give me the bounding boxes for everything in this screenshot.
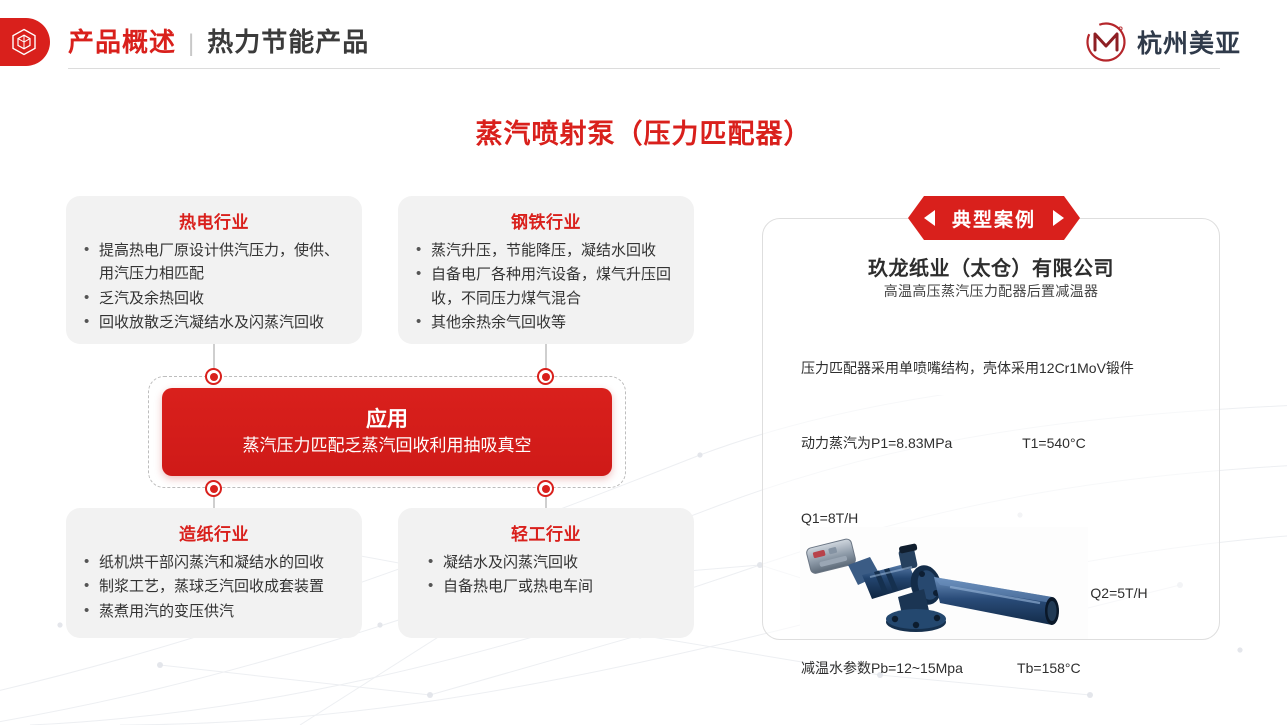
header-divider-rule xyxy=(68,68,1220,69)
slide-root: 产品概述|热力节能产品 杭州美亚 蒸汽喷射泵（压力匹配器） 热电行业 提高热电厂… xyxy=(0,0,1287,725)
card-paper-industry[interactable]: 造纸行业 纸机烘干部闪蒸汽和凝结水的回收 制浆工艺，蒸球乏汽回收成套装置 蒸煮用… xyxy=(66,508,362,638)
list-item: 纸机烘干部闪蒸汽和凝结水的回收 xyxy=(82,551,346,574)
header-title: 产品概述|热力节能产品 xyxy=(68,21,369,65)
list-item: 自备热电厂或热电车间 xyxy=(426,575,678,598)
brand-logo: 杭州美亚 xyxy=(1084,20,1241,64)
connector-dot-bottom-left xyxy=(205,480,222,497)
typical-case-banner-label: 典型案例 xyxy=(952,205,1036,232)
list-item: 回收放散乏汽凝结水及闪蒸汽回收 xyxy=(82,311,346,334)
header-title-sub: 热力节能产品 xyxy=(207,27,369,57)
application-subtitle: 蒸汽压力匹配乏蒸汽回收利用抽吸真空 xyxy=(243,435,532,457)
list-item: 制浆工艺，蒸球乏汽回收成套装置 xyxy=(82,575,346,598)
spec-line: 减温水参数Pb=12~15Mpa Tb=158°C xyxy=(801,656,1201,681)
connector-dot-bottom-right xyxy=(537,480,554,497)
card-bullet-list: 提高热电厂原设计供汽压力，使供、用汽压力相匹配 乏汽及余热回收 回收放散乏汽凝结… xyxy=(82,239,346,334)
card-title: 钢铁行业 xyxy=(414,208,678,233)
list-item: 蒸煮用汽的变压供汽 xyxy=(82,600,346,623)
list-item: 其他余热余气回收等 xyxy=(414,311,678,334)
card-title: 造纸行业 xyxy=(82,520,346,545)
cube-hexagon-icon xyxy=(11,28,37,56)
card-title: 热电行业 xyxy=(82,208,346,233)
triangle-right-icon xyxy=(1053,210,1064,226)
pump-illustration-icon xyxy=(800,527,1088,639)
card-steel-industry[interactable]: 钢铁行业 蒸汽升压，节能降压，凝结水回收 自备电厂各种用汽设备，煤气升压回收，不… xyxy=(398,196,694,344)
spec-line: 动力蒸汽为P1=8.83MPa T1=540°C xyxy=(801,431,1201,456)
list-item: 自备电厂各种用汽设备，煤气升压回收，不同压力煤气混合 xyxy=(414,263,678,310)
card-title: 轻工行业 xyxy=(414,520,678,545)
list-item: 凝结水及闪蒸汽回收 xyxy=(426,551,678,574)
meiya-m-circle-logo-icon xyxy=(1084,20,1128,64)
card-bullet-list: 凝结水及闪蒸汽回收 自备热电厂或热电车间 xyxy=(426,551,678,599)
list-item: 蒸汽升压，节能降压，凝结水回收 xyxy=(414,239,678,262)
header-badge xyxy=(0,18,50,66)
connector-dot-top-left xyxy=(205,368,222,385)
brand-name: 杭州美亚 xyxy=(1137,24,1241,60)
application-diagram: 热电行业 提高热电厂原设计供汽压力，使供、用汽压力相匹配 乏汽及余热回收 回收放… xyxy=(66,196,706,641)
card-power-industry[interactable]: 热电行业 提高热电厂原设计供汽压力，使供、用汽压力相匹配 乏汽及余热回收 回收放… xyxy=(66,196,362,344)
card-bullet-list: 纸机烘干部闪蒸汽和凝结水的回收 制浆工艺，蒸球乏汽回收成套装置 蒸煮用汽的变压供… xyxy=(82,551,346,623)
application-title: 应用 xyxy=(366,407,408,433)
card-light-industry[interactable]: 轻工行业 凝结水及闪蒸汽回收 自备热电厂或热电车间 xyxy=(398,508,694,638)
spec-line: 压力匹配器采用单喷嘴结构，壳体采用12Cr1MoV锻件 xyxy=(801,356,1201,381)
header-title-divider: | xyxy=(188,30,195,57)
application-box[interactable]: 应用 蒸汽压力匹配乏蒸汽回收利用抽吸真空 xyxy=(162,388,612,476)
triangle-left-icon xyxy=(924,210,935,226)
typical-case-banner: 典型案例 xyxy=(908,196,1080,240)
card-bullet-list: 蒸汽升压，节能降压，凝结水回收 自备电厂各种用汽设备，煤气升压回收，不同压力煤气… xyxy=(414,239,678,334)
connector-dot-top-right xyxy=(537,368,554,385)
list-item: 乏汽及余热回收 xyxy=(82,287,346,310)
page-title: 蒸汽喷射泵（压力匹配器） xyxy=(0,112,1287,151)
header-title-main: 产品概述 xyxy=(68,27,176,57)
case-spec-list: 压力匹配器采用单喷嘴结构，壳体采用12Cr1MoV锻件 动力蒸汽为P1=8.83… xyxy=(801,306,1201,725)
steam-ejector-pump-photo xyxy=(800,527,1088,639)
list-item: 提高热电厂原设计供汽压力，使供、用汽压力相匹配 xyxy=(82,239,346,286)
